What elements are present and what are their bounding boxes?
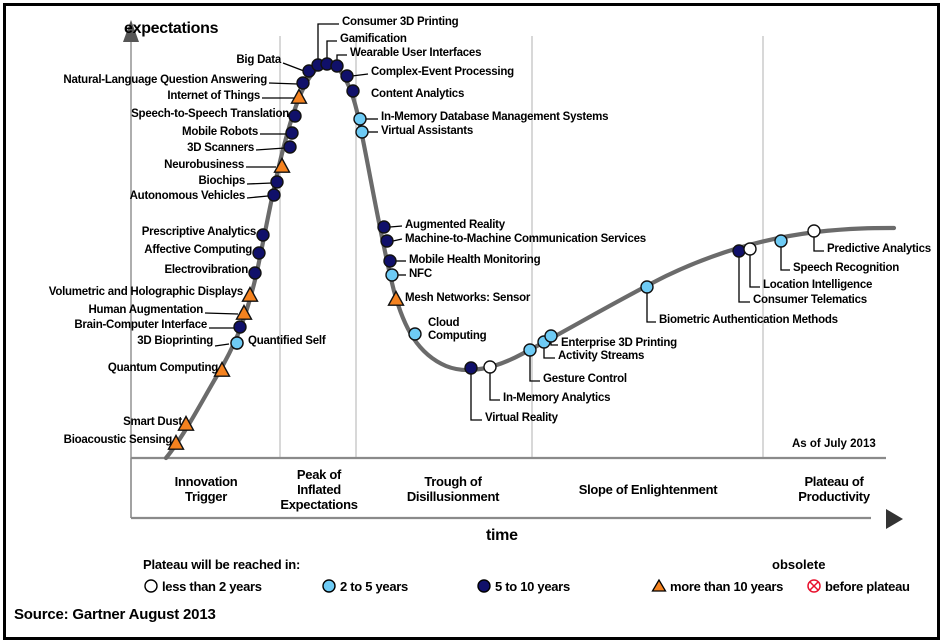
tech-label[interactable]: Content Analytics xyxy=(371,88,464,101)
tech-label[interactable]: Location Intelligence xyxy=(763,279,872,292)
legend-title: Plateau will be reached in: xyxy=(143,557,300,572)
phase-line-1: Plateau of xyxy=(774,474,894,489)
tech-label[interactable]: Autonomous Vehicles xyxy=(130,190,245,203)
phase-line-1: Innovation xyxy=(146,474,266,489)
tech-label[interactable]: Electrovibration xyxy=(164,264,248,277)
tech-label[interactable]: Bioacoustic Sensing xyxy=(64,434,172,447)
data-point-marker[interactable] xyxy=(381,235,393,247)
legend-item-label: less than 2 years xyxy=(162,579,262,594)
data-point-marker[interactable] xyxy=(268,189,280,201)
phase-plateau-of-productivity: Plateau of Productivity xyxy=(774,474,894,504)
data-point-marker[interactable] xyxy=(386,269,398,281)
phase-line-1: Slope of Enlightenment xyxy=(558,482,738,497)
data-point-marker[interactable] xyxy=(384,255,396,267)
as-of-date: As of July 2013 xyxy=(792,438,876,450)
phase-peak-of-inflated-expectations: Peak of Inflated Expectations xyxy=(264,467,374,512)
chart-frame: expectations time As of July 2013 Innova… xyxy=(3,3,940,640)
tech-label[interactable]: Human Augmentation xyxy=(88,304,203,317)
data-point-marker[interactable] xyxy=(275,159,290,173)
tech-label[interactable]: Volumetric and Holographic Displays xyxy=(49,286,243,299)
legend-item-circle[interactable]: 2 to 5 years xyxy=(321,578,408,597)
tech-label[interactable]: Enterprise 3D Printing xyxy=(561,337,677,350)
tech-label[interactable]: Biochips xyxy=(198,175,245,188)
data-point-marker[interactable] xyxy=(284,141,296,153)
tech-label[interactable]: Quantified Self xyxy=(248,335,325,348)
chart-plot-area: expectations time As of July 2013 Innova… xyxy=(6,6,937,637)
tech-label[interactable]: Speech Recognition xyxy=(793,262,899,275)
tech-label[interactable]: Machine-to-Machine Communication Service… xyxy=(405,233,646,246)
phase-innovation-trigger: Innovation Trigger xyxy=(146,474,266,504)
data-point-marker[interactable] xyxy=(545,330,557,342)
phase-line-1: Peak of xyxy=(264,467,374,482)
tech-label[interactable]: In-Memory Database Management Systems xyxy=(381,111,608,124)
phase-line-3: Expectations xyxy=(264,497,374,512)
x-axis-title: time xyxy=(486,527,518,545)
data-point-marker[interactable] xyxy=(347,85,359,97)
y-axis-title: expectations xyxy=(124,20,218,38)
tech-label-line: Cloud xyxy=(428,317,486,330)
tech-label[interactable]: Biometric Authentication Methods xyxy=(659,314,838,327)
data-point-marker[interactable] xyxy=(271,176,283,188)
tech-label[interactable]: Gesture Control xyxy=(543,373,627,386)
data-point-marker[interactable] xyxy=(341,70,353,82)
data-point-marker[interactable] xyxy=(292,90,307,104)
legend-item-circle[interactable]: less than 2 years xyxy=(143,578,262,597)
phase-trough-of-disillusionment: Trough of Disillusionment xyxy=(378,474,528,504)
tech-label[interactable]: Consumer 3D Printing xyxy=(342,16,458,29)
source-note: Source: Gartner August 2013 xyxy=(14,606,216,623)
tech-label[interactable]: Affective Computing xyxy=(144,244,252,257)
data-point-marker[interactable] xyxy=(354,113,366,125)
legend-item-crossed-circle[interactable]: before plateau xyxy=(806,578,910,597)
tech-label[interactable]: Gamification xyxy=(340,33,407,46)
legend-item-label: 5 to 10 years xyxy=(495,579,570,594)
tech-label[interactable]: Consumer Telematics xyxy=(753,294,867,307)
legend-item-circle[interactable]: 5 to 10 years xyxy=(476,578,570,597)
legend-item-label: 2 to 5 years xyxy=(340,579,408,594)
hype-cycle-page: expectations time As of July 2013 Innova… xyxy=(0,0,943,643)
data-point-marker[interactable] xyxy=(231,337,243,349)
circle-legend-icon xyxy=(476,578,492,597)
phase-line-2: Disillusionment xyxy=(378,489,528,504)
tech-label[interactable]: Virtual Assistants xyxy=(381,125,473,138)
tech-label[interactable]: In-Memory Analytics xyxy=(503,392,610,405)
triangle-legend-icon xyxy=(651,578,667,597)
tech-label[interactable]: Wearable User Interfaces xyxy=(350,47,481,60)
tech-label[interactable]: 3D Scanners xyxy=(187,142,254,155)
tech-label[interactable]: CloudComputing xyxy=(428,317,486,343)
tech-label[interactable]: Prescriptive Analytics xyxy=(142,226,256,239)
tech-label[interactable]: NFC xyxy=(409,268,432,281)
tech-label[interactable]: Virtual Reality xyxy=(485,412,558,425)
data-point-marker[interactable] xyxy=(524,344,536,356)
data-point-marker[interactable] xyxy=(253,247,265,259)
tech-label[interactable]: Complex-Event Processing xyxy=(371,66,514,79)
tech-label[interactable]: Internet of Things xyxy=(167,90,260,103)
data-point-marker[interactable] xyxy=(297,77,309,89)
tech-label[interactable]: Neurobusiness xyxy=(164,159,244,172)
tech-label[interactable]: Mobile Robots xyxy=(182,126,258,139)
data-point-marker[interactable] xyxy=(484,361,496,373)
legend-item-label: before plateau xyxy=(825,579,910,594)
phase-slope-of-enlightenment: Slope of Enlightenment xyxy=(558,482,738,497)
legend-item-triangle[interactable]: more than 10 years xyxy=(651,578,783,597)
phase-line-2: Inflated xyxy=(264,482,374,497)
tech-label-line: Computing xyxy=(428,330,486,343)
data-point-marker[interactable] xyxy=(243,288,258,302)
data-point-marker[interactable] xyxy=(744,243,756,255)
tech-label[interactable]: Augmented Reality xyxy=(405,219,505,232)
tech-label[interactable]: Brain-Computer Interface xyxy=(74,319,207,332)
data-point-marker[interactable] xyxy=(389,292,404,306)
phase-line-2: Productivity xyxy=(774,489,894,504)
tech-label[interactable]: Mesh Networks: Sensor xyxy=(405,292,530,305)
data-point-marker[interactable] xyxy=(331,60,343,72)
data-point-marker[interactable] xyxy=(356,126,368,138)
tech-label[interactable]: Big Data xyxy=(236,54,281,67)
data-point-marker[interactable] xyxy=(257,229,269,241)
data-point-marker[interactable] xyxy=(378,221,390,233)
tech-label[interactable]: Natural-Language Question Answering xyxy=(63,74,267,87)
data-point-marker[interactable] xyxy=(249,267,261,279)
data-point-marker[interactable] xyxy=(808,225,820,237)
legend-item-label: more than 10 years xyxy=(670,579,783,594)
data-point-marker[interactable] xyxy=(234,321,246,333)
phase-line-2: Trigger xyxy=(146,489,266,504)
data-point-marker[interactable] xyxy=(733,245,745,257)
legend-obsolete-top-label: obsolete xyxy=(772,557,825,572)
tech-label[interactable]: Speech-to-Speech Translation xyxy=(131,108,289,121)
data-point-marker[interactable] xyxy=(289,110,301,122)
tech-label[interactable]: Mobile Health Monitoring xyxy=(409,254,540,267)
data-point-marker[interactable] xyxy=(286,127,298,139)
data-point-marker[interactable] xyxy=(465,362,477,374)
phase-line-1: Trough of xyxy=(378,474,528,489)
data-point-marker[interactable] xyxy=(775,235,787,247)
tech-label[interactable]: Predictive Analytics xyxy=(827,243,931,256)
tech-label[interactable]: Smart Dust xyxy=(123,416,182,429)
data-point-marker[interactable] xyxy=(409,328,421,340)
data-point-marker[interactable] xyxy=(641,281,653,293)
circle-legend-icon xyxy=(143,578,159,597)
tech-label[interactable]: 3D Bioprinting xyxy=(137,335,213,348)
crossed-circle-legend-icon xyxy=(806,578,822,597)
circle-legend-icon xyxy=(321,578,337,597)
tech-label[interactable]: Activity Streams xyxy=(558,350,644,363)
tech-label[interactable]: Quantum Computing xyxy=(108,362,218,375)
